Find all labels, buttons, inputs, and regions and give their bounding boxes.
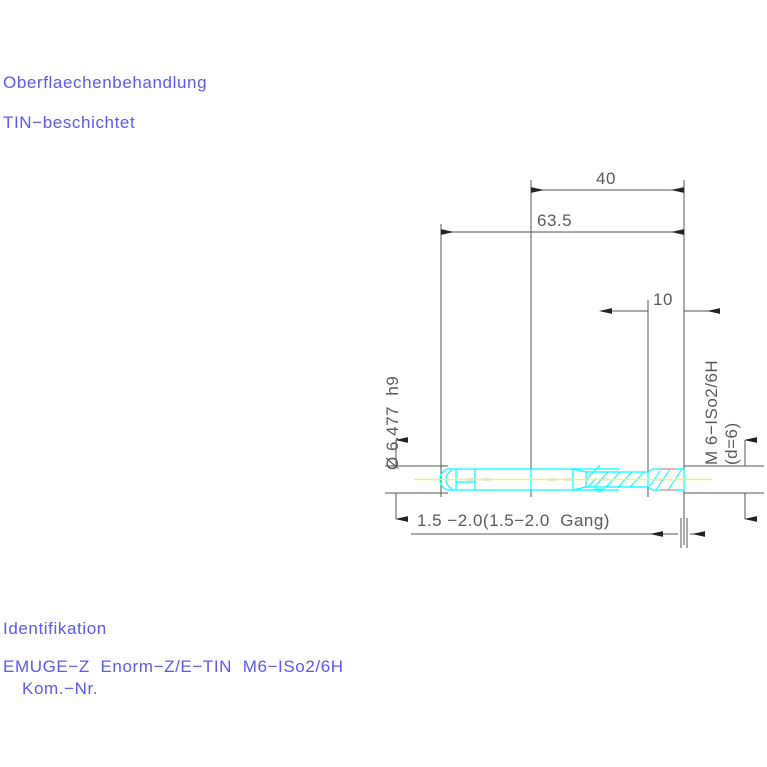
dimension-label-63-5: 63.5 bbox=[537, 211, 572, 230]
identification-line-2: Kom.−Nr. bbox=[22, 679, 98, 698]
dimension-label-10: 10 bbox=[653, 290, 673, 309]
dimension-40: 40 bbox=[531, 169, 684, 190]
dimension-63-5: 63.5 bbox=[441, 211, 684, 232]
chamfer-note-group: 1.5 −2.0(1.5−2.0 Gang) bbox=[411, 511, 705, 548]
surface-treatment-heading: Oberflaechenbehandlung bbox=[3, 73, 207, 92]
surface-treatment-value: TIN−beschichtet bbox=[3, 113, 135, 132]
thread-diameter-note-label: (d=6) bbox=[722, 422, 741, 465]
dimension-label-40: 40 bbox=[596, 169, 616, 188]
dimension-10: 10 bbox=[612, 290, 720, 311]
technical-drawing-page: Oberflaechenbehandlung TIN−beschichtet I… bbox=[0, 0, 767, 767]
tip-helix-3 bbox=[650, 471, 660, 486]
tap-tool-drawing bbox=[414, 465, 712, 492]
drawing-canvas: Oberflaechenbehandlung TIN−beschichtet I… bbox=[0, 0, 767, 767]
dimension-label-diameter: Ø 6.477 h9 bbox=[383, 376, 402, 470]
identification-heading: Identifikation bbox=[3, 619, 107, 638]
chamfer-note-label: 1.5 −2.0(1.5−2.0 Gang) bbox=[417, 511, 610, 530]
dimension-diameter-left: Ø 6.477 h9 bbox=[383, 376, 448, 519]
thread-spec-label: M 6−ISo2/6H bbox=[702, 360, 721, 465]
identification-line-1: EMUGE−Z Enorm−Z/E−TIN M6−ISo2/6H bbox=[3, 657, 344, 676]
